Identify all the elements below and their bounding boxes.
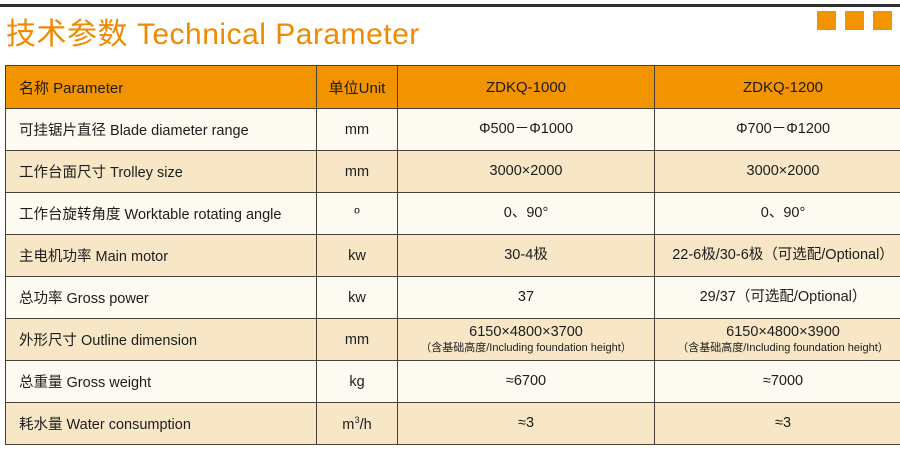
- value-sub: （含基础高度/Including foundation height）: [655, 342, 900, 356]
- cell-parameter: 总功率 Gross power: [6, 277, 317, 319]
- value-main: 22-6极/30-6极（可选配/Optional）: [655, 246, 900, 264]
- cell-value-1200: Φ700－Φ1200: [655, 109, 900, 151]
- cell-value-1200: 6150×4800×3900 （含基础高度/Including foundati…: [655, 319, 900, 361]
- value-main: 30-4极: [398, 246, 654, 264]
- cell-unit: mm: [317, 319, 398, 361]
- decorative-squares: [817, 11, 892, 30]
- cell-parameter: 总重量 Gross weight: [6, 361, 317, 403]
- cell-parameter: 主电机功率 Main motor: [6, 235, 317, 277]
- decorative-square-icon: [845, 11, 864, 30]
- cell-parameter: 外形尺寸 Outline dimension: [6, 319, 317, 361]
- value-main: 0、90°: [655, 204, 900, 222]
- page-title: 技术参数 Technical Parameter: [6, 17, 420, 53]
- page-title-cn: 技术参数: [6, 17, 128, 52]
- technical-parameter-table: 名称 Parameter 单位Unit ZDKQ-1000 ZDKQ-1200 …: [5, 65, 900, 445]
- cell-value-1000: 30-4极: [398, 235, 655, 277]
- table-row: 主电机功率 Main motor kw 30-4极 22-6极/30-6极（可选…: [6, 235, 900, 277]
- cell-value-1200: ≈7000: [655, 361, 900, 403]
- value-main: 3000×2000: [655, 162, 900, 180]
- value-main: 0、90°: [398, 204, 654, 222]
- table-row: 耗水量 Water consumption m3/h ≈3 ≈3: [6, 403, 900, 445]
- technical-parameter-page: 技术参数 Technical Parameter 名称 Parameter 单位…: [0, 0, 900, 449]
- cell-value-1000: Φ500－Φ1000: [398, 109, 655, 151]
- cell-value-1200: 3000×2000: [655, 151, 900, 193]
- value-main: 29/37（可选配/Optional）: [655, 288, 900, 306]
- value-main: Φ700－Φ1200: [655, 120, 900, 138]
- cell-parameter: 工作台面尺寸 Trolley size: [6, 151, 317, 193]
- decorative-square-icon: [817, 11, 836, 30]
- cell-value-1000: ≈3: [398, 403, 655, 445]
- cell-unit: kg: [317, 361, 398, 403]
- value-main: ≈3: [398, 414, 654, 432]
- cell-parameter: 工作台旋转角度 Worktable rotating angle: [6, 193, 317, 235]
- value-main: Φ500－Φ1000: [398, 120, 654, 138]
- table-body: 可挂锯片直径 Blade diameter range mm Φ500－Φ100…: [6, 109, 900, 445]
- column-header-parameter: 名称 Parameter: [6, 66, 317, 109]
- top-divider-rule: [0, 4, 900, 7]
- cell-unit: m3/h: [317, 403, 398, 445]
- page-title-en: Technical Parameter: [137, 18, 420, 51]
- table-row: 外形尺寸 Outline dimension mm 6150×4800×3700…: [6, 319, 900, 361]
- table-row: 总重量 Gross weight kg ≈6700 ≈7000: [6, 361, 900, 403]
- cell-unit: º: [317, 193, 398, 235]
- column-header-model-1200: ZDKQ-1200: [655, 66, 900, 109]
- value-main: 6150×4800×3900: [655, 323, 900, 341]
- table-row: 可挂锯片直径 Blade diameter range mm Φ500－Φ100…: [6, 109, 900, 151]
- cell-value-1200: 0、90°: [655, 193, 900, 235]
- cell-unit: kw: [317, 277, 398, 319]
- unit-base: m: [342, 416, 354, 432]
- value-main: ≈3: [655, 414, 900, 432]
- table-row: 工作台旋转角度 Worktable rotating angle º 0、90°…: [6, 193, 900, 235]
- cell-value-1000: 0、90°: [398, 193, 655, 235]
- cell-value-1000: 37: [398, 277, 655, 319]
- value-main: ≈7000: [655, 372, 900, 390]
- table-header: 名称 Parameter 单位Unit ZDKQ-1000 ZDKQ-1200: [6, 66, 900, 109]
- cell-value-1200: ≈3: [655, 403, 900, 445]
- decorative-square-icon: [873, 11, 892, 30]
- value-main: ≈6700: [398, 372, 654, 390]
- value-main: 3000×2000: [398, 162, 654, 180]
- table-row: 总功率 Gross power kw 37 29/37（可选配/Optional…: [6, 277, 900, 319]
- cell-unit: mm: [317, 109, 398, 151]
- cell-value-1200: 29/37（可选配/Optional）: [655, 277, 900, 319]
- value-main: 6150×4800×3700: [398, 323, 654, 341]
- value-sub: （含基础高度/Including foundation height）: [398, 342, 654, 356]
- value-main: 37: [398, 288, 654, 306]
- cell-value-1000: ≈6700: [398, 361, 655, 403]
- cell-value-1000: 3000×2000: [398, 151, 655, 193]
- cell-value-1200: 22-6极/30-6极（可选配/Optional）: [655, 235, 900, 277]
- cell-value-1000: 6150×4800×3700 （含基础高度/Including foundati…: [398, 319, 655, 361]
- table-header-row: 名称 Parameter 单位Unit ZDKQ-1000 ZDKQ-1200: [6, 66, 900, 109]
- cell-parameter: 耗水量 Water consumption: [6, 403, 317, 445]
- column-header-unit: 单位Unit: [317, 66, 398, 109]
- cell-parameter: 可挂锯片直径 Blade diameter range: [6, 109, 317, 151]
- table-row: 工作台面尺寸 Trolley size mm 3000×2000 3000×20…: [6, 151, 900, 193]
- column-header-model-1000: ZDKQ-1000: [398, 66, 655, 109]
- cell-unit: kw: [317, 235, 398, 277]
- unit-tail: /h: [360, 416, 372, 432]
- cell-unit: mm: [317, 151, 398, 193]
